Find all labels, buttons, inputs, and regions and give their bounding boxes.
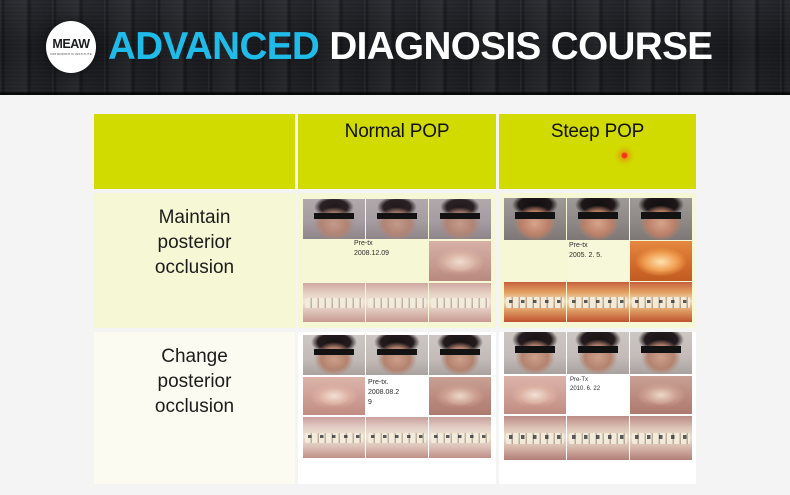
facial-photo-profile xyxy=(504,332,566,374)
teeth-detail xyxy=(431,298,488,308)
facial-photo-profile xyxy=(504,198,566,240)
intraoral-photo-right xyxy=(504,416,566,460)
privacy-eyebar xyxy=(377,349,417,355)
caption-line: Pre-tx xyxy=(569,241,627,251)
facial-photo-profile xyxy=(303,335,365,375)
page-title-accent: ADVANCED xyxy=(108,25,319,68)
header-banner: MEAW ORTHODONTIC INSTITUTE ADVANCED DIAG… xyxy=(0,0,790,95)
facial-photo-strip xyxy=(504,198,692,240)
row-label-line: Maintain xyxy=(155,205,234,230)
caption-line: 9 xyxy=(368,398,414,408)
intraoral-photo-strip xyxy=(303,283,491,322)
meaw-logo: MEAW ORTHODONTIC INSTITUTE xyxy=(46,21,96,73)
occlusal-photo-lower xyxy=(429,377,491,415)
facial-photo-smiling xyxy=(630,332,692,374)
bracket-detail xyxy=(434,435,486,438)
facial-photo-strip xyxy=(504,332,692,374)
case-caption-steep-pop-change: Pre-Tx 2010. 6. 22 xyxy=(570,376,622,393)
intraoral-photo-left xyxy=(429,283,491,322)
caption-line: 2008.12.09 xyxy=(354,249,416,259)
intraoral-photo-right xyxy=(504,282,566,322)
collage-steep-pop-change xyxy=(504,332,692,460)
intraoral-photo-strip xyxy=(303,417,491,458)
privacy-eyebar xyxy=(641,212,681,218)
comparison-table: Normal POP Steep POP Maintain posterior … xyxy=(94,114,696,484)
page-title-plain: DIAGNOSIS COURSE xyxy=(319,25,712,68)
caption-line: Pre-tx xyxy=(354,239,416,249)
occlusal-photo-upper xyxy=(504,376,566,414)
privacy-eyebar xyxy=(515,212,555,218)
page-title: ADVANCED DIAGNOSIS COURSE xyxy=(108,24,712,70)
case-photo-collage-normal-pop-maintain[interactable]: Pre-tx 2008.12.09 xyxy=(298,193,496,328)
bracket-detail xyxy=(572,300,624,303)
bracket-detail xyxy=(635,300,687,303)
facial-photo-profile xyxy=(303,199,365,239)
teeth-detail xyxy=(368,298,425,308)
case-photo-collage-steep-pop-change[interactable]: Pre-Tx 2010. 6. 22 xyxy=(499,332,696,484)
privacy-eyebar xyxy=(377,213,417,219)
row-label-line: posterior xyxy=(155,230,234,255)
intraoral-photo-frontal xyxy=(567,282,629,322)
row-label-line: occlusion xyxy=(155,255,234,280)
case-caption-normal-pop-maintain: Pre-tx 2008.12.09 xyxy=(354,239,416,259)
caption-line: 2010. 6. 22 xyxy=(570,385,622,394)
privacy-eyebar xyxy=(314,213,354,219)
row-label-line: occlusion xyxy=(155,394,234,419)
teeth-detail xyxy=(305,298,362,308)
intraoral-photo-left xyxy=(429,417,491,458)
facial-photo-frontal xyxy=(567,332,629,374)
facial-photo-strip xyxy=(303,335,491,375)
case-caption-steep-pop-maintain: Pre-tx 2005. 2. 5. xyxy=(569,241,627,261)
caption-line: 2005. 2. 5. xyxy=(569,251,627,261)
case-photo-collage-normal-pop-change[interactable]: Pre-tx. 2008.08.2 9 xyxy=(298,332,496,484)
case-photo-collage-steep-pop-maintain[interactable]: Pre-tx 2005. 2. 5. xyxy=(499,193,696,328)
caption-line: 2008.08.2 xyxy=(368,388,414,398)
facial-photo-frontal xyxy=(366,199,428,239)
privacy-eyebar xyxy=(440,213,480,219)
column-header-steep-pop-label: Steep POP xyxy=(551,121,644,143)
intraoral-photo-right xyxy=(303,417,365,458)
caption-line: Pre-tx. xyxy=(368,378,414,388)
laser-pointer-dot xyxy=(621,152,628,159)
occlusal-photo-lower xyxy=(630,241,692,281)
intraoral-photo-frontal xyxy=(366,283,428,322)
occlusal-photo-upper xyxy=(303,377,365,415)
privacy-eyebar xyxy=(440,349,480,355)
bracket-detail xyxy=(509,300,561,303)
bracket-detail xyxy=(308,435,360,438)
collage-normal-pop-maintain xyxy=(303,199,491,322)
table-row-maintain: Maintain posterior occlusion xyxy=(94,193,696,328)
logo-subtext: ORTHODONTIC INSTITUTE xyxy=(50,53,92,56)
occlusal-photo-upper xyxy=(504,241,566,281)
intraoral-photo-strip xyxy=(504,416,692,460)
column-header-normal-pop: Normal POP xyxy=(298,114,496,189)
table-header-row: Normal POP Steep POP xyxy=(94,114,696,189)
facial-photo-frontal xyxy=(366,335,428,375)
row-label-maintain: Maintain posterior occlusion xyxy=(94,193,295,328)
privacy-eyebar xyxy=(641,346,681,352)
privacy-eyebar xyxy=(314,349,354,355)
privacy-eyebar xyxy=(578,212,618,218)
occlusal-photo-upper xyxy=(429,241,491,281)
intraoral-photo-right xyxy=(303,283,365,322)
facial-photo-strip xyxy=(303,199,491,239)
intraoral-photo-left xyxy=(630,282,692,322)
table-corner-cell xyxy=(94,114,295,189)
row-label-change: Change posterior occlusion xyxy=(94,332,295,484)
intraoral-photo-left xyxy=(630,416,692,460)
column-header-normal-pop-label: Normal POP xyxy=(345,121,450,143)
facial-photo-smiling xyxy=(630,198,692,240)
caption-line: Pre-Tx xyxy=(570,376,622,385)
case-caption-normal-pop-change: Pre-tx. 2008.08.2 9 xyxy=(368,378,414,408)
privacy-eyebar xyxy=(515,346,555,352)
intraoral-photo-frontal xyxy=(366,417,428,458)
logo-wordmark: MEAW xyxy=(52,38,89,51)
facial-photo-frontal xyxy=(567,198,629,240)
bracket-detail xyxy=(371,435,423,438)
bracket-detail xyxy=(635,435,687,439)
facial-photo-smiling xyxy=(429,335,491,375)
row-label-change-text: Change posterior occlusion xyxy=(155,344,234,419)
row-label-line: Change xyxy=(155,344,234,369)
table-row-change: Change posterior occlusion xyxy=(94,332,696,484)
privacy-eyebar xyxy=(578,346,618,352)
bracket-detail xyxy=(509,435,561,439)
row-label-maintain-text: Maintain posterior occlusion xyxy=(155,205,234,280)
column-header-steep-pop: Steep POP xyxy=(499,114,696,189)
row-label-line: posterior xyxy=(155,369,234,394)
occlusal-photo-lower xyxy=(630,376,692,414)
slide-canvas: MEAW ORTHODONTIC INSTITUTE ADVANCED DIAG… xyxy=(0,0,790,495)
intraoral-photo-frontal xyxy=(567,416,629,460)
facial-photo-smiling xyxy=(429,199,491,239)
bracket-detail xyxy=(572,435,624,439)
intraoral-photo-strip xyxy=(504,282,692,322)
